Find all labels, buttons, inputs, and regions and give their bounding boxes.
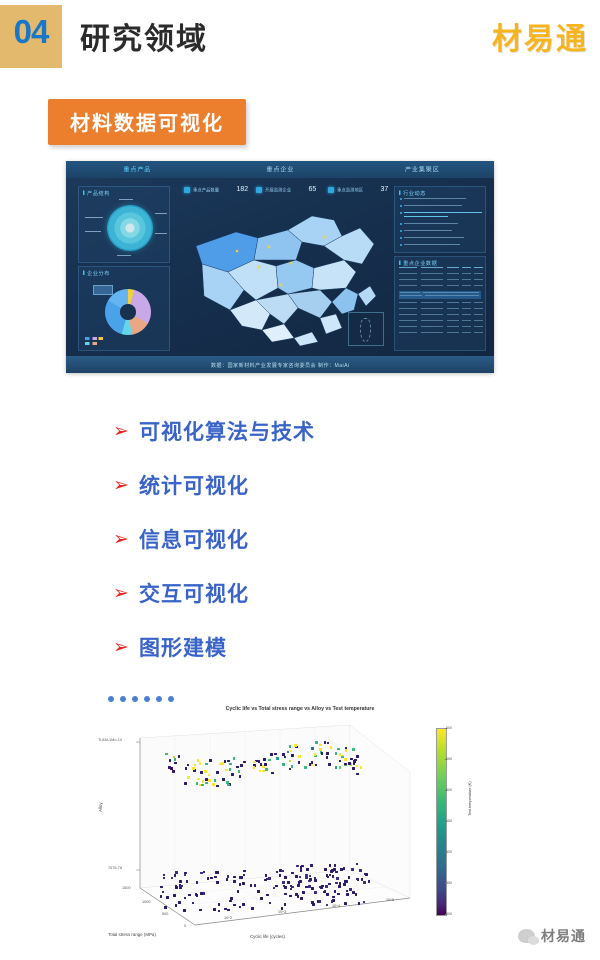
bullet-dot-icon [400, 230, 402, 232]
scatter-point [368, 880, 371, 883]
scatter-point [330, 870, 333, 873]
scatter-point [173, 894, 176, 897]
scatter-point [200, 771, 203, 774]
scatter-point [302, 891, 305, 894]
scatter-point [209, 759, 212, 762]
colorbar-tick-label: 600 [446, 726, 452, 730]
scatter-point [356, 773, 359, 776]
donut-center-value [93, 285, 113, 295]
z-tick-label: 10^3 [278, 910, 286, 914]
scatter-point [239, 883, 242, 886]
news-text [404, 223, 458, 224]
z-axis-label: Cyclic life (cycles) [250, 934, 285, 939]
news-text [404, 198, 466, 199]
scatter-point [287, 881, 290, 884]
dashboard-panel-news: 行业动态 [394, 186, 486, 253]
scatter-point [363, 881, 366, 884]
x-tick-label: 1000 [142, 900, 150, 904]
scatter-point [213, 908, 216, 911]
scatter-point [310, 864, 313, 867]
scatter-point [352, 748, 355, 751]
scatter-point [251, 907, 254, 910]
scatter-point [175, 886, 178, 889]
map-inset-southsea [348, 312, 384, 346]
scatter-point [242, 882, 245, 885]
scatter-point [263, 758, 266, 761]
news-text [404, 216, 448, 217]
scatter-point [214, 779, 217, 782]
scatter-point [321, 752, 324, 755]
scatter-point [324, 868, 327, 871]
scatter-point [233, 757, 236, 760]
scatter-point [343, 867, 346, 870]
china-map [184, 202, 390, 350]
scatter-point [229, 763, 232, 766]
radar-label-line [119, 199, 133, 200]
table-row-selected[interactable] [399, 291, 481, 299]
scatter-point [227, 760, 230, 763]
footer: 材易通 [518, 926, 586, 946]
scatter-point [226, 781, 229, 784]
page-header: 04 研究领域 材易通 [0, 0, 600, 72]
scatter-point [164, 906, 167, 909]
scatter-point [284, 886, 287, 889]
scatter-point [243, 761, 246, 764]
scatter-point [184, 782, 187, 785]
x-tick-label: 500 [162, 912, 168, 916]
scatter-point [222, 778, 225, 781]
scatter-point [309, 875, 312, 878]
news-text [404, 205, 462, 206]
scatter-point [326, 752, 329, 755]
stat-item: 开展监测企业 65 [256, 186, 316, 193]
topic-list: ➢ 可视化算法与技术 ➢ 统计可视化 ➢ 信息可视化 ➢ 交互可视化 ➢ 图形建… [113, 404, 533, 674]
scatter-point [335, 752, 338, 755]
chart-axes-svg [100, 720, 430, 940]
dashboard-tab-bar: 重点产品 重点企业 产业集聚区 [66, 161, 494, 178]
brand-logo: 材易通 [492, 14, 588, 58]
arrow-bullet-icon: ➢ [113, 584, 139, 603]
wechat-icon [518, 929, 535, 943]
donut-legend [85, 342, 99, 347]
stat-icon [256, 187, 262, 193]
scatter-point [218, 903, 221, 906]
scatter-point [179, 880, 182, 883]
scatter-point [264, 879, 267, 882]
scatter-point [306, 868, 309, 871]
scatter-point [276, 757, 279, 760]
scatter-point [349, 888, 352, 891]
scatter-point [168, 766, 171, 769]
dashboard-panel-radar: 产品结构 [78, 186, 170, 263]
decorative-dot [144, 696, 150, 702]
scatter-point [196, 894, 199, 897]
scatter-point [353, 760, 356, 763]
scatter-point [291, 886, 294, 889]
list-item-label: 信息可视化 [139, 524, 249, 554]
scatter-point [257, 890, 260, 893]
news-text [404, 212, 482, 213]
scatter-point [260, 763, 263, 766]
scatter-point [289, 745, 292, 748]
scatter-point [312, 903, 315, 906]
scatter-point [187, 776, 190, 779]
scatter-point [308, 880, 311, 883]
scatter-point [328, 763, 331, 766]
dashboard-body: 产品结构 企业分布 重点产品数量 182 [66, 178, 494, 356]
scatter-point [183, 909, 186, 912]
section-badge: 材料数据可视化 [48, 99, 246, 145]
scatter-point [260, 897, 263, 900]
list-item: ➢ 可视化算法与技术 [113, 404, 533, 458]
scatter-point [282, 881, 285, 884]
scatter-point [326, 874, 329, 877]
scatter-point [270, 753, 273, 756]
radar-label-line [85, 231, 101, 232]
stat-label: 重点监测地区 [337, 187, 363, 193]
colorbar-label: Test temperature (K) [468, 781, 472, 816]
stat-label: 开展监测企业 [265, 187, 291, 193]
stat-value: 182 [237, 186, 249, 193]
scatter-point [238, 770, 241, 773]
chart-title: Cyclic life vs Total stress range vs All… [100, 706, 500, 712]
page-title: 研究领域 [80, 14, 208, 58]
scatter-point [319, 744, 322, 747]
radar-label-line [117, 255, 131, 256]
scatter-point [271, 772, 274, 775]
scatter-point [356, 755, 359, 758]
dashboard-panel-donut: 企业分布 [78, 266, 170, 351]
scatter-point [264, 763, 267, 766]
scatter-point [174, 762, 177, 765]
section-number: 04 [0, 0, 62, 63]
scatter-point [344, 758, 347, 761]
x-axis-label: Total stress range (MPa) [108, 932, 156, 937]
scatter-point [205, 778, 208, 781]
z-tick-label: 10^2 [224, 916, 232, 920]
scatter-point [227, 875, 230, 878]
scatter-point [275, 885, 278, 888]
scatter-point [199, 762, 202, 765]
scatter-point [175, 871, 178, 874]
scatter-point [332, 875, 335, 878]
x-tick-label: 1500 [122, 886, 130, 890]
scatter-point [284, 903, 287, 906]
scatter-point [335, 871, 338, 874]
arrow-bullet-icon: ➢ [113, 638, 139, 657]
radar-label-line [155, 213, 167, 214]
scatter-point [328, 883, 331, 886]
scatter-point [208, 779, 211, 782]
decorative-dot [108, 696, 114, 702]
scatter-point [258, 760, 261, 763]
scatter-point [324, 741, 327, 744]
scatter-point [361, 878, 364, 881]
bullet-dot-icon [400, 223, 402, 225]
decorative-dot [156, 696, 162, 702]
scatter-point [160, 886, 163, 889]
chart-plot-area: Ti-6Al-1Mo-1V 7075-T6 Alloy 1500 1000 50… [100, 720, 430, 940]
scatter-point [319, 748, 322, 751]
scatter-point [237, 890, 240, 893]
stat-item: 重点监测地区 37 [328, 186, 388, 193]
bullet-dot-icon [400, 244, 402, 246]
scatter-point [343, 883, 346, 886]
news-text [404, 244, 460, 245]
stat-icon [184, 187, 190, 193]
scatter-point [231, 773, 234, 776]
z-tick-label: 10^5 [386, 898, 394, 902]
dashboard-tab-clusters[interactable]: 产业集聚区 [319, 165, 494, 174]
scatter-point [172, 770, 175, 773]
scatter-point [311, 887, 314, 890]
colorbar-tick-label: 300 [446, 912, 452, 916]
scatter-point [346, 893, 349, 896]
dashboard-panel-table: 重点企业数据 [394, 256, 486, 351]
scatter-point [242, 903, 245, 906]
decorative-dot [168, 696, 174, 702]
scatter-point [311, 901, 314, 904]
scatter-point [320, 886, 323, 889]
scatter-point [268, 877, 271, 880]
list-item: ➢ 信息可视化 [113, 512, 533, 566]
scatter-point [314, 879, 317, 882]
scatter-point [185, 767, 188, 770]
scatter-point [336, 877, 339, 880]
scatter-point [300, 897, 303, 900]
scatter-point [335, 766, 338, 769]
scatter-point [253, 761, 256, 764]
dashboard-caption: 数据：国家新材料产业发展专家咨询委员会 制作：MaiAi [211, 361, 350, 369]
scatter-point [344, 763, 347, 766]
scatter-point [356, 863, 359, 866]
scatter-point [219, 763, 222, 766]
scatter-point [188, 894, 191, 897]
scatter-point [305, 876, 308, 879]
scatter-point [243, 874, 246, 877]
y-tick-label: 7075-T6 [108, 866, 122, 870]
radar-label-line [155, 233, 167, 234]
donut-panel-title: 企业分布 [83, 269, 110, 277]
scatter-point [205, 763, 208, 766]
scatter-point [289, 760, 292, 763]
list-item-label: 图形建模 [139, 632, 227, 662]
list-item-label: 统计可视化 [139, 470, 249, 500]
dashboard-caption-bar: 数据：国家新材料产业发展专家咨询委员会 制作：MaiAi [66, 356, 494, 373]
scatter-point [239, 876, 242, 879]
colorbar-tick-label: 550 [446, 757, 452, 761]
scatter-point [233, 880, 236, 883]
z-tick-label: 10^4 [332, 904, 340, 908]
scatter-point [332, 896, 335, 899]
scatter-point [326, 756, 329, 759]
bullet-dot-icon [400, 212, 402, 214]
scatter-point [352, 767, 355, 770]
scatter-point [160, 895, 163, 898]
scatter-point [300, 869, 303, 872]
scatter-point [178, 901, 181, 904]
scatter-point [311, 747, 314, 750]
donut-chart [105, 289, 151, 335]
scatter-point [216, 771, 219, 774]
radar-panel-title: 产品结构 [83, 189, 110, 197]
scatter-point [355, 893, 358, 896]
colorbar-tick-label: 500 [446, 788, 452, 792]
news-text [404, 230, 452, 231]
scatter-point [315, 741, 318, 744]
scatter-point [338, 885, 341, 888]
scatter-point [204, 770, 207, 773]
scatter-point [266, 894, 269, 897]
scatter-point [348, 762, 351, 765]
radar-label-line [85, 217, 103, 218]
scatter-point [345, 749, 348, 752]
scatter-point [325, 885, 328, 888]
scatter-point [329, 864, 332, 867]
scatter-point [300, 866, 303, 869]
colorbar-tick-label: 350 [446, 881, 452, 885]
scatter-point [295, 875, 298, 878]
stat-icon [328, 187, 334, 193]
colorbar-tick-label: 450 [446, 819, 452, 823]
stat-value: 37 [381, 186, 389, 193]
bullet-dot-icon [400, 198, 402, 200]
y-axis-label: Alloy [98, 802, 103, 812]
scatter-point [216, 785, 219, 788]
decorative-dot [120, 696, 126, 702]
list-item-label: 交互可视化 [139, 578, 249, 608]
donut-legend [85, 337, 105, 342]
bullet-dot-icon [400, 205, 402, 207]
list-item-label: 可视化算法与技术 [139, 416, 315, 446]
scatter-point [339, 766, 342, 769]
decorative-dots [108, 696, 174, 702]
bullet-dot-icon [400, 237, 402, 239]
scatter-point [282, 763, 285, 766]
news-text [404, 237, 464, 238]
scatter-point [205, 782, 208, 785]
scatter-point [250, 884, 253, 887]
dashboard-screenshot: 重点产品 重点企业 产业集聚区 产品结构 企业分布 [66, 161, 494, 373]
arrow-bullet-icon: ➢ [113, 422, 139, 441]
scatter-point [274, 753, 277, 756]
scatter-point [212, 783, 215, 786]
scatter-point [314, 891, 317, 894]
scatter-point [340, 868, 343, 871]
scatter-point [291, 754, 294, 757]
arrow-bullet-icon: ➢ [113, 530, 139, 549]
scatter-point [284, 876, 287, 879]
table-panel-title: 重点企业数据 [399, 259, 437, 267]
scatter-point [236, 766, 239, 769]
stat-value: 65 [309, 186, 317, 193]
arrow-bullet-icon: ➢ [113, 476, 139, 495]
scatter-point [192, 767, 195, 770]
scatter-point [294, 744, 297, 747]
scatter-point [216, 881, 219, 884]
scatter-point [227, 909, 230, 912]
scatter-point [202, 892, 205, 895]
list-item: ➢ 图形建模 [113, 620, 533, 674]
scatter-point [210, 877, 213, 880]
stat-label: 重点产品数量 [193, 187, 219, 193]
scatter-point [166, 896, 169, 899]
scatter-point [351, 868, 354, 871]
scatter-point [265, 768, 268, 771]
x-tick-label: 0 [184, 924, 186, 928]
list-item: ➢ 统计可视化 [113, 458, 533, 512]
scatter-point [304, 766, 307, 769]
scatter-point [165, 753, 168, 756]
stat-item: 重点产品数量 182 [184, 186, 248, 193]
y-tick-label: Ti-6Al-1Mo-1V [98, 738, 122, 742]
news-panel-title: 行业动态 [399, 189, 426, 197]
scatter-point [268, 759, 271, 762]
scatter-point [326, 893, 329, 896]
footer-brand: 材易通 [541, 926, 586, 946]
scatter-chart-3d: Cyclic life vs Total stress range vs All… [100, 706, 500, 942]
decorative-dot [132, 696, 138, 702]
scatter-point [229, 768, 232, 771]
colorbar-tick-label: 400 [446, 850, 452, 854]
scatter-point [178, 755, 181, 758]
dashboard-stats-row: 重点产品数量 182 开展监测企业 65 重点监测地区 37 [184, 186, 390, 200]
radar-chart [107, 205, 153, 251]
scatter-point [359, 869, 362, 872]
scatter-point [202, 780, 205, 783]
scatter-point [305, 874, 308, 877]
scatter-point [298, 755, 301, 758]
scatter-point [200, 892, 203, 895]
list-item: ➢ 交互可视化 [113, 566, 533, 620]
